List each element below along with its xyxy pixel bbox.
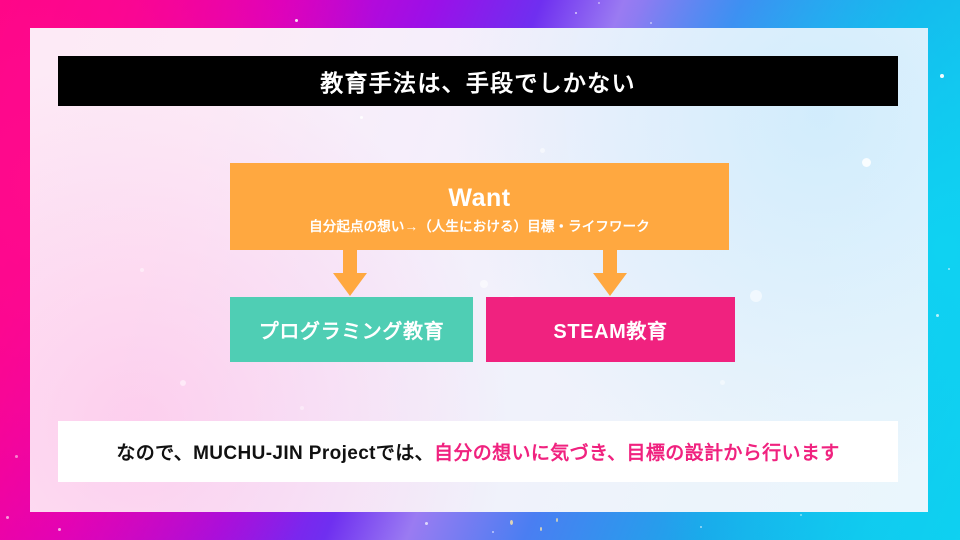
slide-title-bar: 教育手法は、手段でしかない — [58, 56, 898, 106]
sparkle-dot — [480, 280, 488, 288]
footer-text: なので、MUCHU-JIN Projectでは、自分の想いに気づき、目標の設計か… — [116, 438, 839, 465]
footer-banner: なので、MUCHU-JIN Projectでは、自分の想いに気づき、目標の設計か… — [58, 421, 898, 482]
sparkle-dot — [948, 268, 950, 270]
want-heading: Want — [448, 184, 510, 212]
sparkle-dot — [862, 158, 871, 167]
sparkle-dot — [295, 19, 298, 22]
sparkle-dot — [492, 531, 494, 533]
sparkle-dot — [556, 518, 558, 522]
sparkle-dot — [700, 526, 702, 528]
sparkle-dot — [720, 380, 725, 385]
footer-lead: なので、MUCHU-JIN Projectでは、 — [116, 443, 434, 464]
sparkle-dot — [598, 2, 600, 4]
method-box-steam: STEAM教育 — [486, 297, 735, 362]
want-subtext: 自分起点の想い→（人生における）目標・ライフワーク — [309, 215, 650, 235]
sparkle-dot — [540, 527, 542, 531]
slide-canvas: 教育手法は、手段でしかない Want 自分起点の想い→（人生における）目標・ライ… — [0, 0, 960, 540]
down-arrow-icon — [333, 250, 367, 296]
sparkle-dot — [936, 314, 939, 317]
want-box: Want 自分起点の想い→（人生における）目標・ライフワーク — [230, 163, 729, 250]
sparkle-dot — [650, 22, 652, 24]
arrow-shaft — [603, 250, 617, 275]
method-label: STEAM教育 — [553, 315, 667, 344]
footer-emphasis: 自分の想いに気づき、目標の設計から行います — [434, 443, 840, 464]
method-box-programming: プログラミング教育 — [230, 297, 473, 362]
arrow-shaft — [343, 250, 357, 275]
sparkle-dot — [6, 516, 9, 519]
sparkle-dot — [750, 290, 762, 302]
sparkle-dot — [360, 116, 363, 119]
sparkle-dot — [15, 455, 18, 458]
sparkle-dot — [510, 520, 513, 525]
sparkle-dot — [300, 406, 304, 410]
sparkle-dot — [140, 268, 144, 272]
sparkle-dot — [425, 522, 428, 525]
sparkle-dot — [575, 12, 577, 14]
sparkle-dot — [540, 148, 545, 153]
sparkle-dot — [58, 528, 61, 531]
method-label: プログラミング教育 — [259, 315, 444, 344]
arrow-head — [333, 273, 367, 296]
sparkle-dot — [940, 74, 944, 78]
down-arrow-icon — [593, 250, 627, 296]
sparkle-dot — [180, 380, 186, 386]
sparkle-dot — [800, 514, 802, 516]
page-title: 教育手法は、手段でしかない — [320, 64, 635, 98]
arrow-head — [593, 273, 627, 296]
